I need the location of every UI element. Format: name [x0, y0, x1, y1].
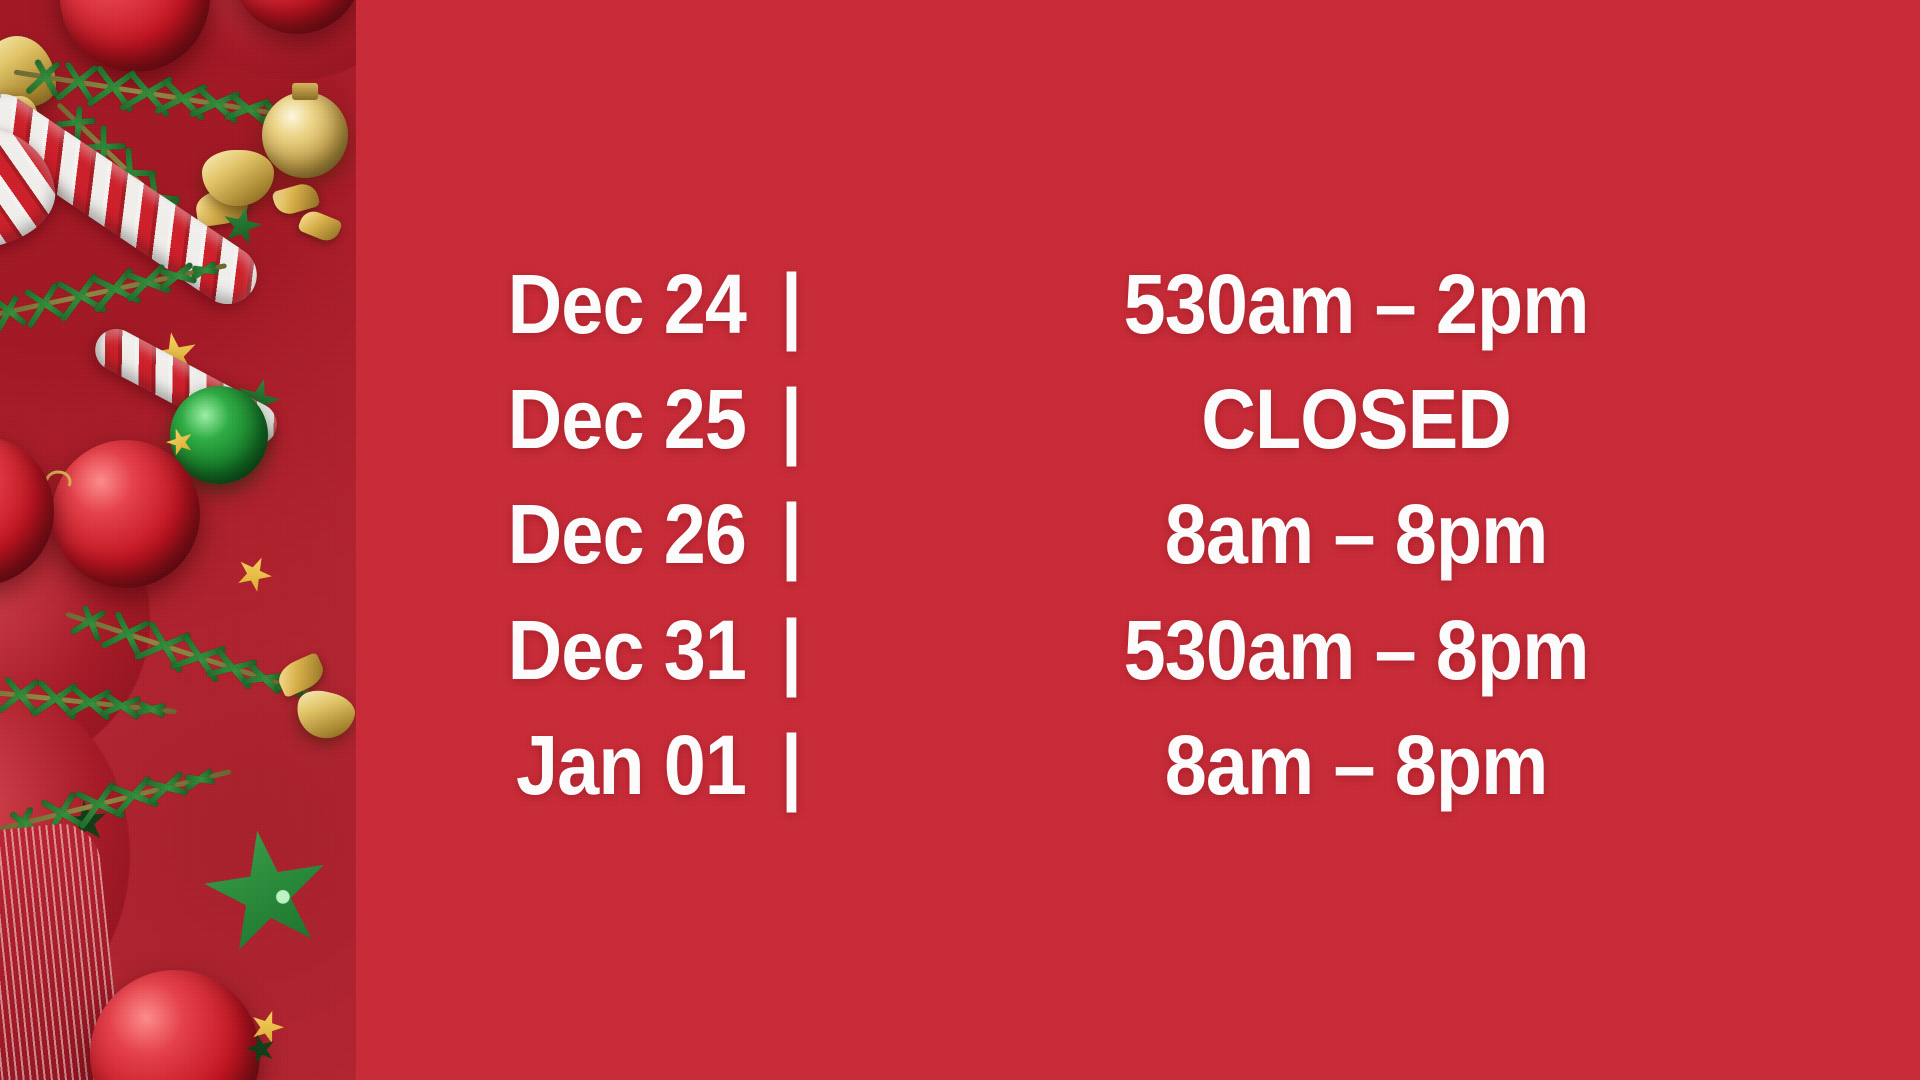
hours-row-time: 8am – 8pm — [887, 721, 1809, 810]
pine-branch — [0, 248, 232, 333]
ornament-cap — [292, 83, 318, 100]
hours-row-separator: | — [751, 375, 832, 464]
hours-row-separator: | — [751, 721, 832, 810]
hours-row-date: Dec 25 — [395, 375, 746, 464]
green-glitter-star — [195, 821, 339, 965]
hours-row-separator: | — [751, 490, 832, 579]
holiday-hours-poster: Dec 24 | 530am – 2pm Dec 25 | CLOSED Dec… — [0, 0, 1920, 1080]
hours-row: Dec 25 | CLOSED — [356, 375, 1860, 464]
hours-row-date: Jan 01 — [395, 721, 746, 810]
hours-row: Dec 26 | 8am – 8pm — [356, 490, 1860, 579]
hours-row-date: Dec 26 — [395, 490, 746, 579]
hours-row-separator: | — [751, 260, 832, 349]
hours-row: Jan 01 | 8am – 8pm — [356, 721, 1860, 810]
gold-star — [230, 550, 278, 598]
hours-row-date: Dec 24 — [395, 260, 746, 349]
christmas-decoration-border — [0, 0, 356, 1080]
hours-row-time: 530am – 2pm — [887, 260, 1809, 349]
holiday-hours-list: Dec 24 | 530am – 2pm Dec 25 | CLOSED Dec… — [356, 0, 1920, 1080]
gold-ribbon-curl — [297, 207, 343, 244]
hours-row: Dec 31 | 530am – 8pm — [356, 606, 1860, 695]
gold-ornament-ball — [262, 92, 348, 178]
hours-row-time: 530am – 8pm — [887, 606, 1809, 695]
hours-row-date: Dec 31 — [395, 606, 746, 695]
hours-row-time: 8am – 8pm — [887, 490, 1809, 579]
hours-row: Dec 24 | 530am – 2pm — [356, 260, 1860, 349]
red-ornament-ball — [60, 0, 210, 72]
red-ornament-ball — [90, 970, 260, 1080]
hours-row-separator: | — [751, 606, 832, 695]
hours-row-time: CLOSED — [887, 375, 1809, 464]
bell-slit — [170, 386, 229, 393]
